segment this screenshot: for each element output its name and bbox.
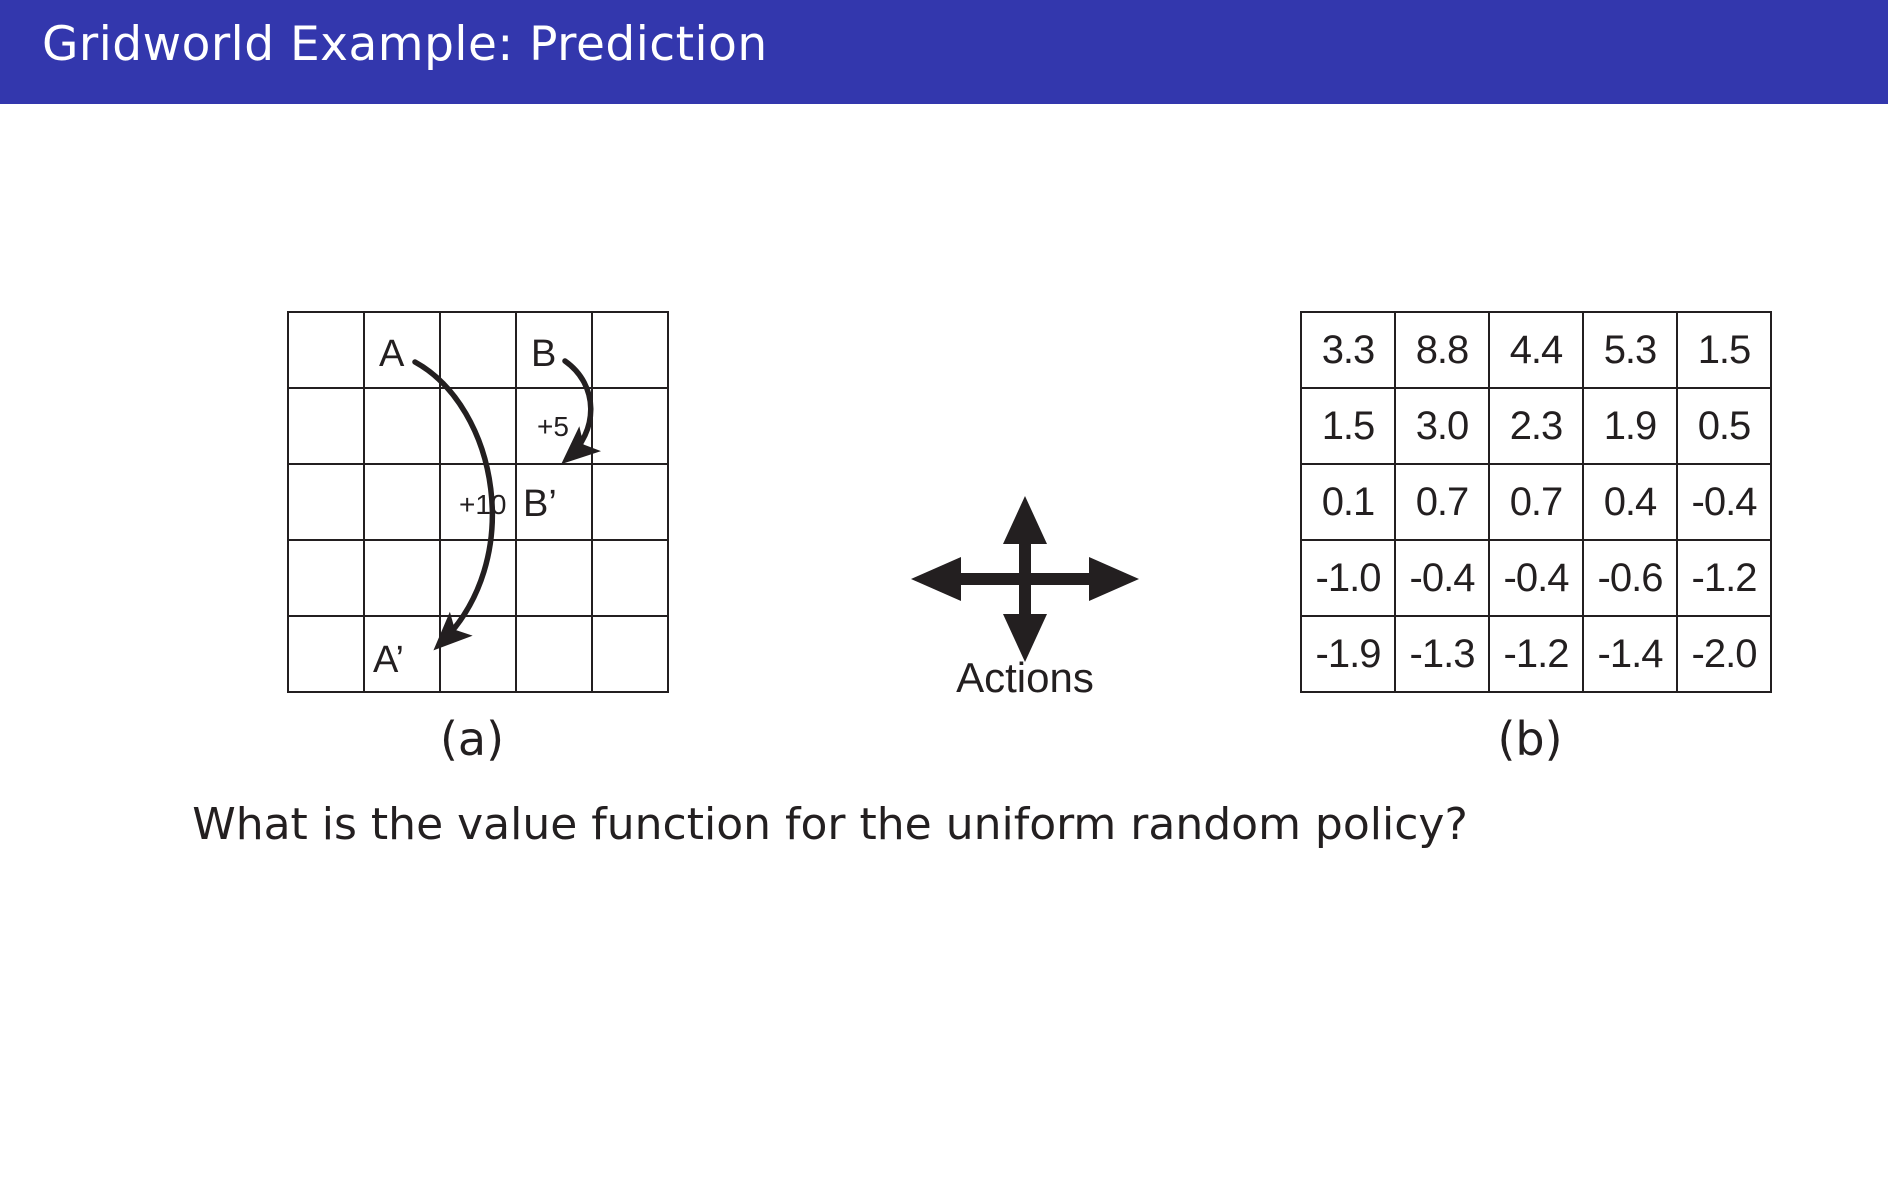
gridworld-row: A’ [288, 616, 668, 692]
grid-cell-r3c2 [440, 540, 516, 616]
grid-cell-r1c4 [592, 388, 668, 464]
value-cell-r1c4: 0.5 [1677, 388, 1771, 464]
question-text: What is the value function for the unifo… [120, 799, 1540, 850]
gridworld-row [288, 540, 668, 616]
value-cell-r0c1: 8.8 [1395, 312, 1489, 388]
value-cell-r2c3: 0.4 [1583, 464, 1677, 540]
grid-cell-r2c3: B’ [516, 464, 592, 540]
grid-cell-r2c1 [364, 464, 440, 540]
reward-label-a: +10 [459, 491, 507, 519]
grid-cell-r1c1 [364, 388, 440, 464]
caption-figure-a: (a) [392, 712, 552, 766]
value-cell-r3c0: -1.0 [1301, 540, 1395, 616]
value-cell-r0c3: 5.3 [1583, 312, 1677, 388]
value-cell-r2c1: 0.7 [1395, 464, 1489, 540]
value-cell-r3c1: -0.4 [1395, 540, 1489, 616]
grid-cell-r0c1: A [364, 312, 440, 388]
reward-label-b: +5 [537, 413, 569, 441]
table-row: 0.1 0.7 0.7 0.4 -0.4 [1301, 464, 1771, 540]
grid-cell-r3c4 [592, 540, 668, 616]
grid-cell-r3c0 [288, 540, 364, 616]
page-title: Gridworld Example: Prediction [42, 17, 768, 72]
gridworld-grid: A B +5 [287, 311, 669, 693]
value-cell-r0c2: 4.4 [1489, 312, 1583, 388]
grid-cell-r3c3 [516, 540, 592, 616]
grid-cell-r0c4 [592, 312, 668, 388]
value-cell-r2c4: -0.4 [1677, 464, 1771, 540]
four-way-arrow-icon [895, 494, 1155, 664]
value-cell-r3c4: -1.2 [1677, 540, 1771, 616]
grid-cell-r2c0 [288, 464, 364, 540]
value-cell-r4c3: -1.4 [1583, 616, 1677, 692]
value-cell-r3c3: -0.6 [1583, 540, 1677, 616]
caption-figure-b: (b) [1450, 712, 1610, 766]
state-label-b: B [531, 335, 556, 373]
grid-cell-r1c2 [440, 388, 516, 464]
grid-cell-r2c2: +10 [440, 464, 516, 540]
slide-content: A B +5 [0, 104, 1888, 1186]
value-cell-r1c0: 1.5 [1301, 388, 1395, 464]
value-cell-r4c2: -1.2 [1489, 616, 1583, 692]
value-function-table-wrapper: 3.3 8.8 4.4 5.3 1.5 1.5 3.0 2.3 1.9 0.5 … [1300, 311, 1772, 693]
gridworld-row: A B [288, 312, 668, 388]
grid-cell-r4c0 [288, 616, 364, 692]
gridworld-row: +10 B’ [288, 464, 668, 540]
slide-title-bar: Gridworld Example: Prediction [0, 0, 1888, 104]
gridworld-diagram: A B +5 [287, 311, 657, 681]
value-cell-r2c2: 0.7 [1489, 464, 1583, 540]
value-cell-r4c1: -1.3 [1395, 616, 1489, 692]
grid-cell-r4c3 [516, 616, 592, 692]
value-cell-r4c0: -1.9 [1301, 616, 1395, 692]
value-cell-r1c2: 2.3 [1489, 388, 1583, 464]
gridworld-row: +5 [288, 388, 668, 464]
grid-cell-r1c0 [288, 388, 364, 464]
value-cell-r3c2: -0.4 [1489, 540, 1583, 616]
grid-cell-r0c3: B [516, 312, 592, 388]
grid-cell-r3c1 [364, 540, 440, 616]
value-cell-r0c4: 1.5 [1677, 312, 1771, 388]
state-label-a-prime: A’ [373, 641, 404, 679]
table-row: -1.0 -0.4 -0.4 -0.6 -1.2 [1301, 540, 1771, 616]
value-cell-r1c1: 3.0 [1395, 388, 1489, 464]
actions-label: Actions [895, 654, 1155, 702]
grid-cell-r4c1: A’ [364, 616, 440, 692]
grid-cell-r2c4 [592, 464, 668, 540]
state-label-b-prime: B’ [523, 485, 557, 523]
table-row: 3.3 8.8 4.4 5.3 1.5 [1301, 312, 1771, 388]
grid-cell-r1c3: +5 [516, 388, 592, 464]
value-cell-r2c0: 0.1 [1301, 464, 1395, 540]
value-cell-r1c3: 1.9 [1583, 388, 1677, 464]
grid-cell-r0c2 [440, 312, 516, 388]
grid-cell-r4c2 [440, 616, 516, 692]
value-cell-r4c4: -2.0 [1677, 616, 1771, 692]
actions-diagram: Actions [895, 494, 1155, 724]
value-cell-r0c0: 3.3 [1301, 312, 1395, 388]
grid-cell-r4c4 [592, 616, 668, 692]
grid-cell-r0c0 [288, 312, 364, 388]
table-row: 1.5 3.0 2.3 1.9 0.5 [1301, 388, 1771, 464]
value-function-table: 3.3 8.8 4.4 5.3 1.5 1.5 3.0 2.3 1.9 0.5 … [1300, 311, 1772, 693]
state-label-a: A [379, 335, 404, 373]
table-row: -1.9 -1.3 -1.2 -1.4 -2.0 [1301, 616, 1771, 692]
